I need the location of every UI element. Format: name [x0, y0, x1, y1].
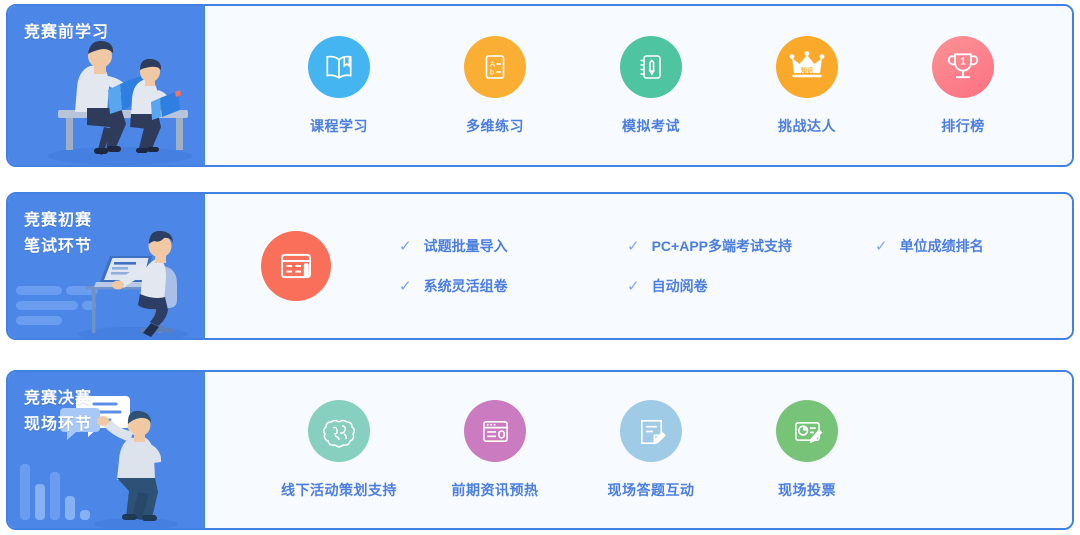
process-flow-board: 竞赛前学习	[0, 0, 1080, 535]
tile-label: 前期资讯预热	[452, 480, 539, 500]
checklist-preliminary: ✓ 试题批量导入 ✓ PC+APP多端考试支持 ✓ 单位成绩排名 ✓ 系统灵活组…	[399, 226, 984, 306]
exercise-sheet-icon: A b	[464, 36, 526, 98]
news-page-icon	[464, 400, 526, 462]
open-book-icon	[308, 36, 370, 98]
check-item: ✓ 试题批量导入	[399, 236, 627, 256]
row-pre-contest-study: 竞赛前学习	[6, 4, 1074, 167]
check-item: ✓ 自动阅卷	[627, 276, 875, 296]
answer-sheet-icon	[620, 400, 682, 462]
check-icon: ✓	[399, 239, 412, 254]
tile-label: 课程学习	[310, 116, 368, 136]
check-label: 自动阅卷	[652, 276, 708, 296]
tile-offline-event-planning[interactable]: 线下活动策划支持	[261, 400, 417, 500]
row2-body: ✓ 试题批量导入 ✓ PC+APP多端考试支持 ✓ 单位成绩排名 ✓ 系统灵活组…	[205, 226, 1072, 306]
svg-text:1: 1	[960, 56, 966, 67]
tile-mock-exam[interactable]: 模拟考试	[573, 36, 729, 136]
panel-preliminary-written-exam: 竞赛初赛 笔试环节	[8, 194, 205, 338]
tile-label: 挑战达人	[778, 116, 836, 136]
tile-multidimensional-practice[interactable]: A b 多维练习	[417, 36, 573, 136]
tile-challenge-master[interactable]: 知识 挑战达人	[729, 36, 885, 136]
check-item: ✓ 单位成绩排名	[875, 236, 984, 256]
trophy-one-icon: 1	[932, 36, 994, 98]
check-label: 试题批量导入	[424, 236, 508, 256]
check-item: ✓ PC+APP多端考试支持	[627, 236, 875, 256]
content-final-onsite: 线下活动策划支持 前期资讯预热	[205, 372, 1072, 528]
content-preliminary-written-exam: ✓ 试题批量导入 ✓ PC+APP多端考试支持 ✓ 单位成绩排名 ✓ 系统灵活组…	[205, 194, 1072, 338]
crown-icon: 知识	[776, 36, 838, 98]
panel-title-preliminary-written-exam: 竞赛初赛 笔试环节	[24, 208, 92, 260]
row-final-onsite: 竞赛决赛 现场环节	[6, 370, 1074, 530]
tile-onsite-voting[interactable]: 现场投票	[729, 400, 885, 500]
panel-title-final-onsite: 竞赛决赛 现场环节	[24, 386, 92, 438]
check-icon: ✓	[627, 239, 640, 254]
content-pre-contest-study: 课程学习 A b 多维练习	[205, 6, 1072, 165]
check-label: 系统灵活组卷	[424, 276, 508, 296]
svg-text:知识: 知识	[801, 66, 813, 74]
check-item: ✓ 系统灵活组卷	[399, 276, 627, 296]
notebook-pencil-icon	[620, 36, 682, 98]
brain-icon	[308, 400, 370, 462]
panel-title-line2: 笔试环节	[24, 234, 92, 260]
tile-label: 多维练习	[466, 116, 524, 136]
panel-title-line1: 竞赛前学习	[24, 24, 109, 41]
row-preliminary-written-exam: 竞赛初赛 笔试环节	[6, 192, 1074, 340]
tile-course-study[interactable]: 课程学习	[261, 36, 417, 136]
tile-label: 线下活动策划支持	[281, 480, 397, 500]
tile-label: 模拟考试	[622, 116, 680, 136]
tiles-final-onsite: 线下活动策划支持 前期资讯预热	[205, 400, 885, 500]
tile-label: 现场投票	[778, 480, 836, 500]
check-label: PC+APP多端考试支持	[652, 236, 792, 256]
vote-chart-icon	[776, 400, 838, 462]
check-icon: ✓	[399, 279, 412, 294]
tile-onsite-qa-interaction[interactable]: 现场答题互动	[573, 400, 729, 500]
tile-label: 排行榜	[941, 116, 985, 136]
panel-title-pre-contest-study: 竞赛前学习	[24, 20, 109, 46]
panel-pre-contest-study: 竞赛前学习	[8, 6, 205, 165]
panel-final-onsite: 竞赛决赛 现场环节	[8, 372, 205, 528]
check-icon: ✓	[627, 279, 640, 294]
panel-title-line1: 竞赛决赛	[24, 390, 92, 407]
tile-news-warmup[interactable]: 前期资讯预热	[417, 400, 573, 500]
svg-text:b: b	[490, 67, 494, 76]
panel-title-line1: 竞赛初赛	[24, 212, 92, 229]
tile-label: 现场答题互动	[608, 480, 695, 500]
check-icon: ✓	[875, 239, 888, 254]
check-label: 单位成绩排名	[900, 236, 984, 256]
exam-paper-icon	[261, 231, 331, 301]
tiles-pre-contest-study: 课程学习 A b 多维练习	[205, 36, 1041, 136]
tile-leaderboard[interactable]: 1 排行榜	[885, 36, 1041, 136]
panel-title-line2: 现场环节	[24, 412, 92, 438]
